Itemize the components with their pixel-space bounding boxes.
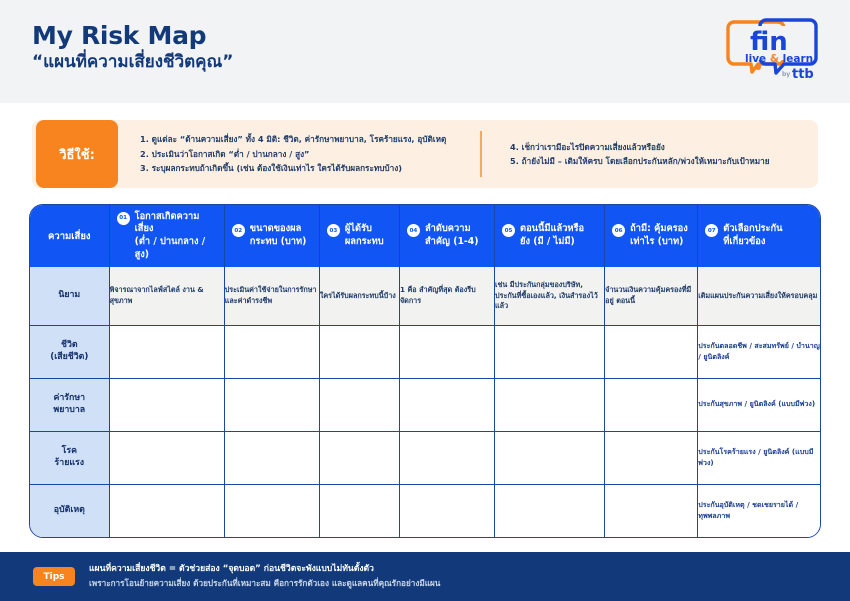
how-to-divider <box>480 131 482 177</box>
column-header-06[interactable]: 06 ถ้ามี: คุ้มครองเท่าไร (บาท) <box>605 205 698 267</box>
risk-map-table-container: ความเสี่ยง 01 โอกาสเกิดความเสี่ยง(ต่ำ / … <box>29 204 821 538</box>
input-cell-likelihood[interactable] <box>109 484 224 537</box>
column-number-badge: 01 <box>117 212 130 225</box>
input-cell-likelihood[interactable] <box>109 325 224 378</box>
definition-row: นิยาม พิจารณาจากไลฟ์สไตล์ งาน & สุขภาพ ป… <box>30 267 820 325</box>
definition-cell: เติมแผนประกันความเสี่ยงให้ครอบคลุม <box>698 267 820 325</box>
page-subtitle: “แผนที่ความเสี่ยงชีวิตคุณ” <box>32 52 233 73</box>
how-to-use-badge: วิธีใช้: <box>36 120 118 188</box>
fin-live-and-learn-logo: fin live & learn by ttb <box>720 12 828 84</box>
input-cell-affected-persons[interactable] <box>319 325 399 378</box>
page-header: My Risk Map “แผนที่ความเสี่ยงชีวิตคุณ” f… <box>0 0 850 103</box>
input-cell-priority[interactable] <box>399 431 494 484</box>
tips-line-primary: แผนที่ความเสี่ยงชีวิต = ตัวช่วยส่อง “จุด… <box>89 562 440 577</box>
column-header-07[interactable]: 07 ตัวเลือกประกันที่เกี่ยวข้อง <box>698 205 820 267</box>
row-label-medical: ค่ารักษาพยาบาล <box>30 378 109 431</box>
insurance-options-cell: ประกันตลอดชีพ / สะสมทรัพย์ / บำนาญ / ยูน… <box>698 325 820 378</box>
insurance-options-cell: ประกันอุบัติเหตุ / ชดเชยรายได้ / ทุพพลภา… <box>698 484 820 537</box>
how-to-left-steps: 1. ดูแต่ละ “ด้านความเสี่ยง” ทั้ง 4 มิติ:… <box>140 132 470 175</box>
input-cell-priority[interactable] <box>399 378 494 431</box>
insurance-options-cell: ประกันโรคร้ายแรง / ยูนิตลิงค์ (แบบมีพ่วง… <box>698 431 820 484</box>
input-cell-affected-persons[interactable] <box>319 378 399 431</box>
definition-cell: พิจารณาจากไลฟ์สไตล์ งาน & สุขภาพ <box>109 267 224 325</box>
insurance-options-cell: ประกันสุขภาพ / ยูนิตลิงค์ (แบบมีพ่วง) <box>698 378 820 431</box>
input-cell-likelihood[interactable] <box>109 431 224 484</box>
table-row: ค่ารักษาพยาบาล ประกันสุขภาพ / ยูนิตลิงค์… <box>30 378 820 431</box>
column-header-label: ขนาดของผลกระทบ (บาท) <box>250 223 307 248</box>
tips-text-block: แผนที่ความเสี่ยงชีวิต = ตัวช่วยส่อง “จุด… <box>89 562 440 591</box>
definition-cell: จำนวนเงินความคุ้มครองที่มีอยู่ ตอนนี้ <box>605 267 698 325</box>
column-header-03[interactable]: 03 ผู้ได้รับผลกระทบ <box>319 205 399 267</box>
input-cell-have-now[interactable] <box>495 484 605 537</box>
logo-svg: fin live & learn by ttb <box>720 12 828 84</box>
tips-line-secondary: เพราะการโอนย้ายความเสี่ยง ด้วยประกันที่เ… <box>89 577 440 591</box>
how-to-right-steps: 4. เช็กว่าเรามีอะไรปิดความเสี่ยงแล้วหรือ… <box>510 140 818 169</box>
input-cell-coverage-amount[interactable] <box>605 431 698 484</box>
definition-cell: เช่น มีประกันกลุ่มของบริษัท, ประกันที่ซื… <box>495 267 605 325</box>
column-header-label: ผู้ได้รับผลกระทบ <box>345 223 384 248</box>
column-number-badge: 07 <box>705 224 718 237</box>
column-number-badge: 06 <box>612 224 625 237</box>
input-cell-have-now[interactable] <box>495 378 605 431</box>
tips-badge: Tips <box>33 567 75 586</box>
input-cell-priority[interactable] <box>399 325 494 378</box>
title-block: My Risk Map “แผนที่ความเสี่ยงชีวิตคุณ” <box>32 22 233 73</box>
how-to-step: 1. ดูแต่ละ “ด้านความเสี่ยง” ทั้ง 4 มิติ:… <box>140 132 470 146</box>
table-corner-header: ความเสี่ยง <box>30 205 109 267</box>
input-cell-have-now[interactable] <box>495 325 605 378</box>
how-to-step: 3. ระบุผลกระทบถ้าเกิดขึ้น (เช่น ต้องใช้เ… <box>140 161 470 175</box>
column-header-01[interactable]: 01 โอกาสเกิดความเสี่ยง(ต่ำ / ปานกลาง / ส… <box>109 205 224 267</box>
input-cell-impact-size[interactable] <box>224 378 319 431</box>
column-number-badge: 05 <box>502 224 515 237</box>
column-header-label: ตัวเลือกประกันที่เกี่ยวข้อง <box>723 223 782 248</box>
risk-map-table: ความเสี่ยง 01 โอกาสเกิดความเสี่ยง(ต่ำ / … <box>30 205 820 537</box>
how-to-step: 4. เช็กว่าเรามีอะไรปิดความเสี่ยงแล้วหรือ… <box>510 140 818 154</box>
column-header-label: ถ้ามี: คุ้มครองเท่าไร (บาท) <box>630 223 688 248</box>
logo-tagline-text: live & learn <box>745 53 813 65</box>
input-cell-have-now[interactable] <box>495 431 605 484</box>
definition-cell: ประเมินค่าใช้จ่ายในการรักษา และค่าดำรงชี… <box>224 267 319 325</box>
risk-map-page: My Risk Map “แผนที่ความเสี่ยงชีวิตคุณ” f… <box>0 0 850 601</box>
table-row: อุบัติเหตุ ประกันอุบัติเหตุ / ชดเชยรายได… <box>30 484 820 537</box>
row-label-life: ชีวิต(เสียชีวิต) <box>30 325 109 378</box>
input-cell-coverage-amount[interactable] <box>605 325 698 378</box>
column-header-label: ลำดับความสำคัญ (1-4) <box>425 223 479 248</box>
input-cell-affected-persons[interactable] <box>319 484 399 537</box>
input-cell-impact-size[interactable] <box>224 431 319 484</box>
input-cell-coverage-amount[interactable] <box>605 484 698 537</box>
input-cell-coverage-amount[interactable] <box>605 378 698 431</box>
row-label-critical-illness: โรคร้ายแรง <box>30 431 109 484</box>
definition-cell: 1 คือ สำคัญที่สุด ต้องรีบจัดการ <box>399 267 494 325</box>
input-cell-likelihood[interactable] <box>109 378 224 431</box>
table-header-row: ความเสี่ยง 01 โอกาสเกิดความเสี่ยง(ต่ำ / … <box>30 205 820 267</box>
column-header-label: ตอนนี้มีแล้วหรือยัง (มี / ไม่มี) <box>520 223 584 248</box>
column-header-04[interactable]: 04 ลำดับความสำคัญ (1-4) <box>399 205 494 267</box>
table-row: ชีวิต(เสียชีวิต) ประกันตลอดชีพ / สะสมทรั… <box>30 325 820 378</box>
input-cell-impact-size[interactable] <box>224 484 319 537</box>
row-label-accident: อุบัติเหตุ <box>30 484 109 537</box>
tips-footer: Tips แผนที่ความเสี่ยงชีวิต = ตัวช่วยส่อง… <box>0 552 850 601</box>
how-to-step: 5. ถ้ายังไม่มี – เติมให้ครบ โดยเลือกประก… <box>510 154 818 168</box>
logo-dot <box>755 64 761 70</box>
column-header-02[interactable]: 02 ขนาดของผลกระทบ (บาท) <box>224 205 319 267</box>
logo-by-text: by <box>782 71 790 78</box>
input-cell-impact-size[interactable] <box>224 325 319 378</box>
input-cell-affected-persons[interactable] <box>319 431 399 484</box>
row-label-definition: นิยาม <box>30 267 109 325</box>
column-number-badge: 04 <box>407 224 420 237</box>
logo-ttb-text: ttb <box>792 67 814 82</box>
column-header-05[interactable]: 05 ตอนนี้มีแล้วหรือยัง (มี / ไม่มี) <box>495 205 605 267</box>
definition-cell: ใครได้รับผลกระทบนี้บ้าง <box>319 267 399 325</box>
how-to-step: 2. ประเมินว่าโอกาสเกิด “ต่ำ / ปานกลาง / … <box>140 147 470 161</box>
page-title: My Risk Map <box>32 22 233 50</box>
how-to-use-panel: วิธีใช้: 1. ดูแต่ละ “ด้านความเสี่ยง” ทั้… <box>32 120 818 188</box>
input-cell-priority[interactable] <box>399 484 494 537</box>
column-header-label: โอกาสเกิดความเสี่ยง(ต่ำ / ปานกลาง / สูง) <box>135 211 217 261</box>
column-number-badge: 03 <box>327 224 340 237</box>
column-number-badge: 02 <box>232 224 245 237</box>
table-row: โรคร้ายแรง ประกันโรคร้ายแรง / ยูนิตลิงค์… <box>30 431 820 484</box>
